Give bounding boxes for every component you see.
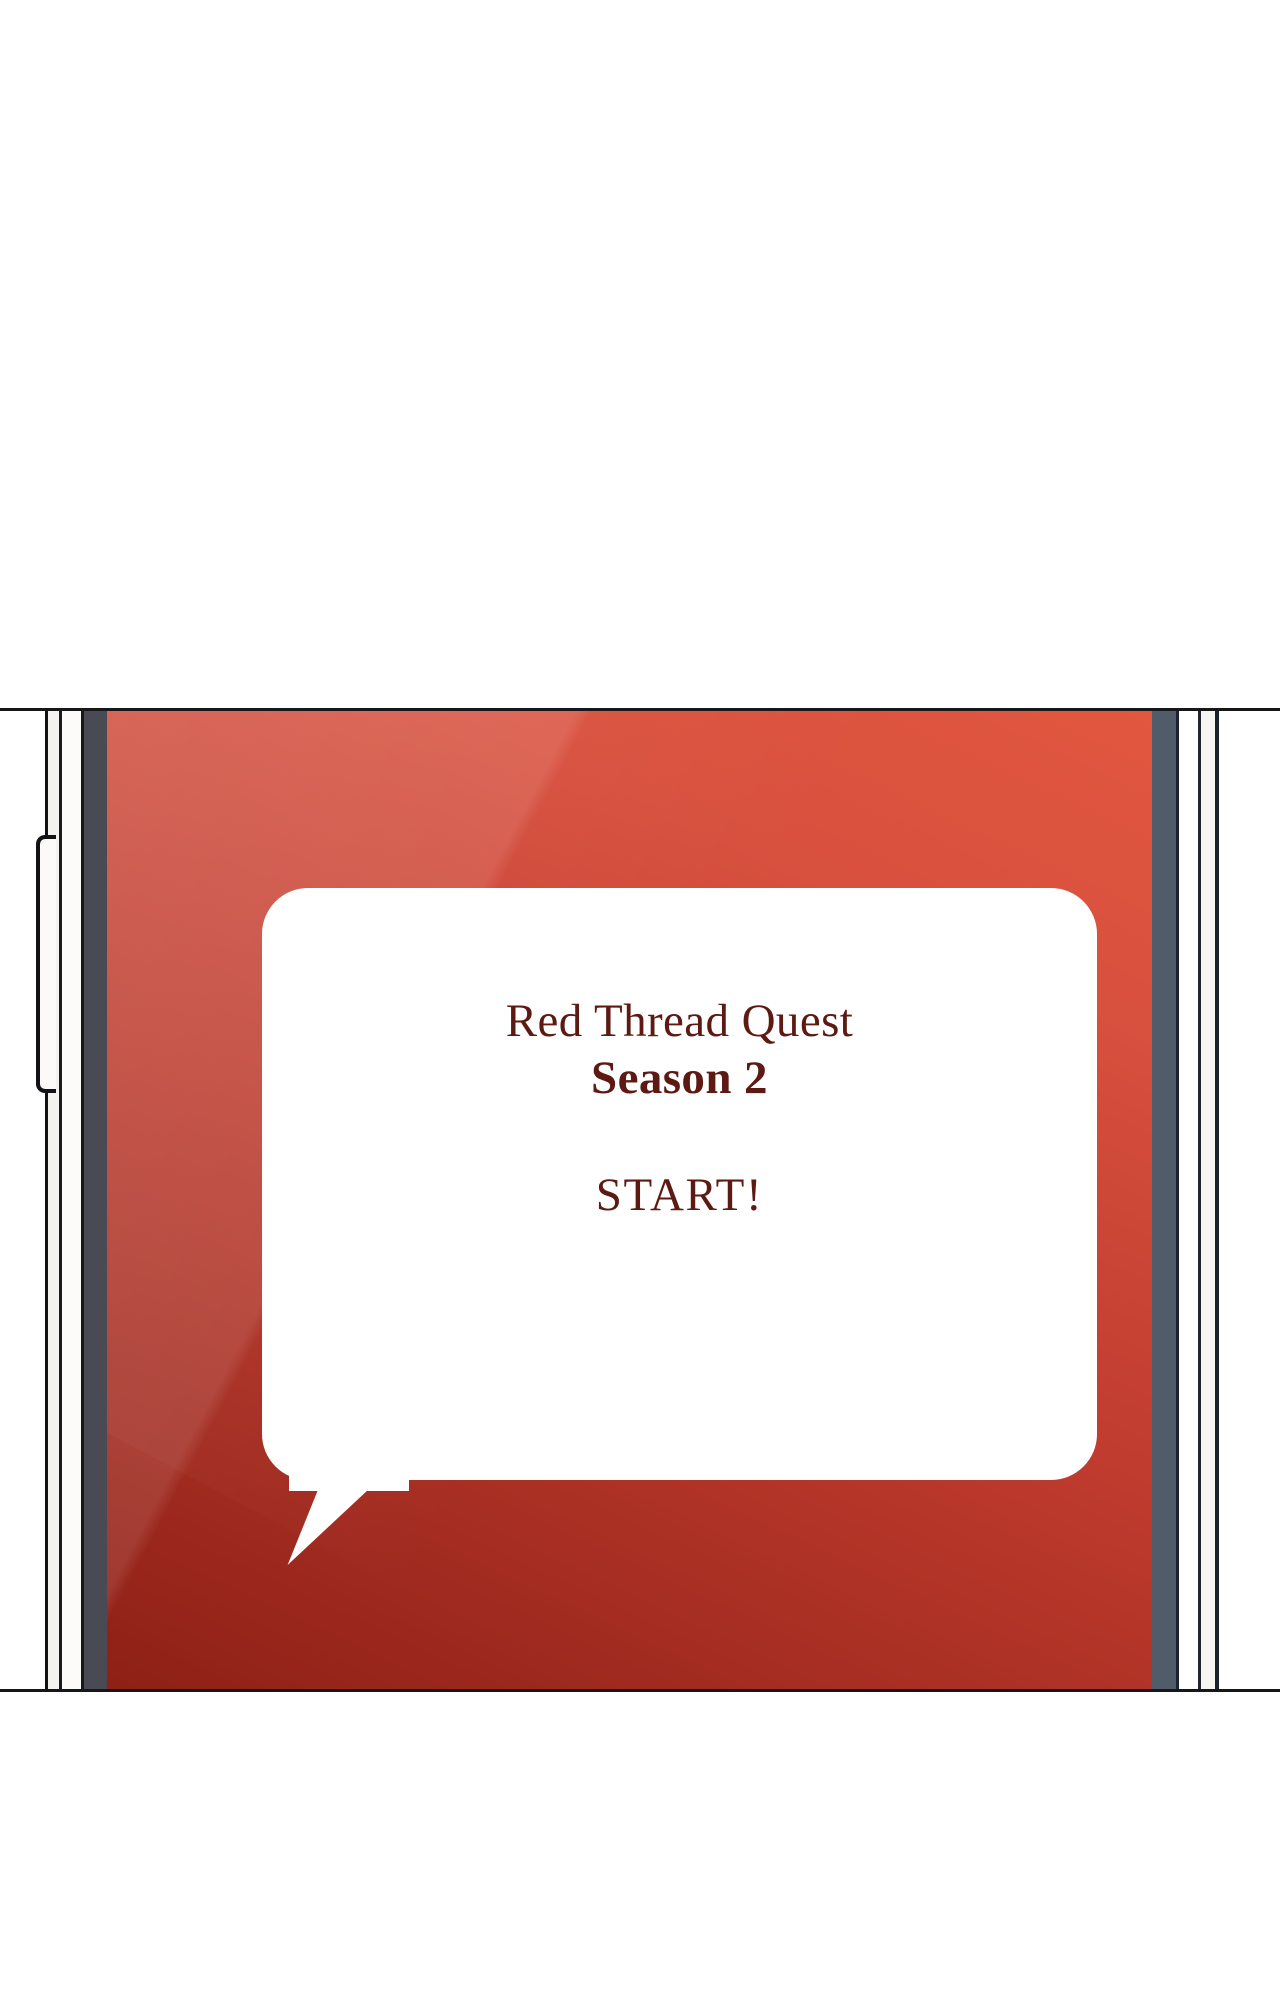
panel-bottom-border [0, 1689, 1280, 1692]
season-label-text: Season 2 [262, 1055, 1097, 1102]
phone-frame-body-left [62, 711, 81, 1689]
phone-frame-edge-right [1201, 711, 1216, 1689]
phone-screen: Red Thread Quest Season 2 START! [107, 711, 1152, 1689]
start-call-to-action-text: START! [262, 1172, 1097, 1219]
power-button-icon[interactable] [36, 835, 56, 1093]
comic-panel: Red Thread Quest Season 2 START! [0, 708, 1280, 1692]
speech-bubble-text-block: Red Thread Quest Season 2 START! [262, 998, 1097, 1219]
phone-screen-bezel-left [84, 711, 107, 1689]
phone-frame-outer-right [1219, 711, 1248, 1689]
speech-bubble: Red Thread Quest Season 2 START! [262, 888, 1097, 1480]
phone-screen-bezel-right [1152, 711, 1176, 1689]
phone-frame-body-right [1179, 711, 1198, 1689]
quest-title-text: Red Thread Quest [262, 998, 1097, 1045]
smartphone-device: Red Thread Quest Season 2 START! [40, 711, 1248, 1689]
webtoon-panel-page: Red Thread Quest Season 2 START! [0, 0, 1280, 2000]
